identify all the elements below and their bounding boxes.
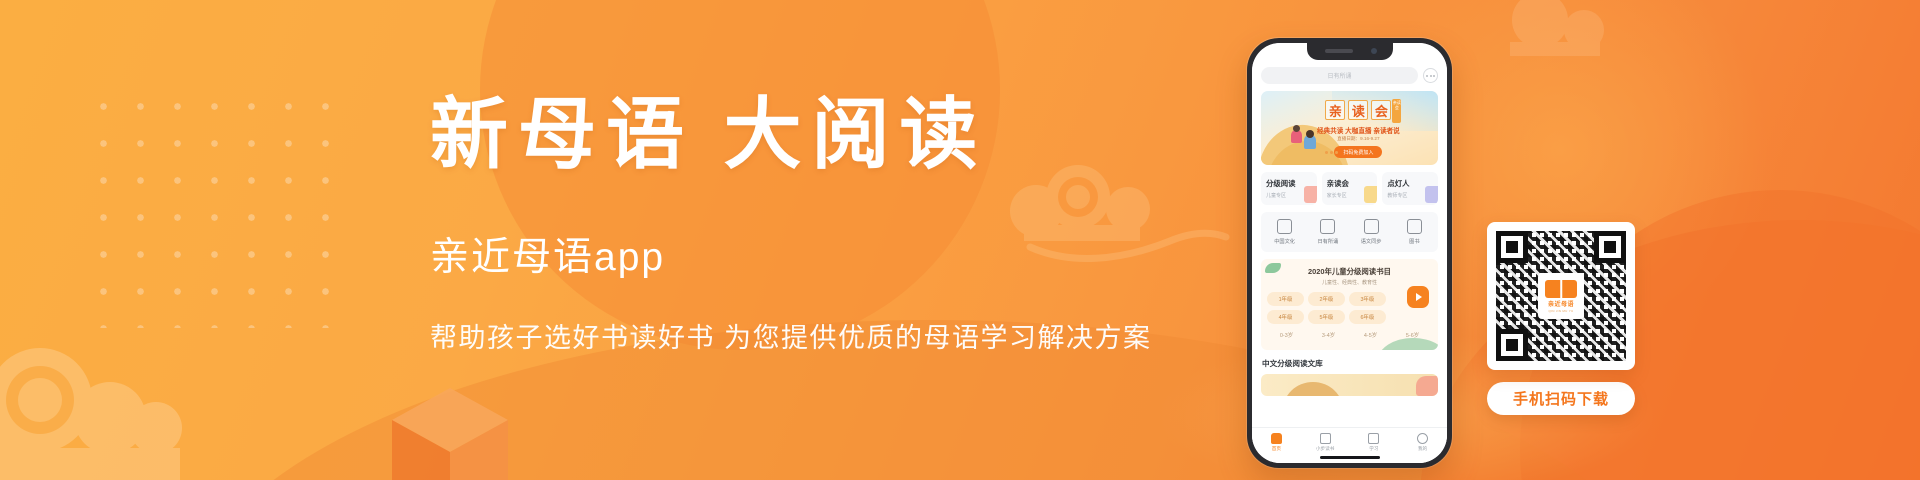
tab-reading[interactable]: 小步读书 — [1301, 433, 1350, 452]
grade-chip[interactable]: 4年级 — [1267, 310, 1304, 324]
library-banner[interactable] — [1261, 374, 1438, 396]
age-chip[interactable]: 3-4岁 — [1309, 328, 1348, 342]
logo-subtitle: QIN JIN MU YU — [1548, 309, 1573, 313]
grade-chip[interactable]: 2年级 — [1308, 292, 1345, 306]
user-icon — [1417, 433, 1428, 444]
more-icon[interactable] — [1423, 68, 1438, 83]
quick-links-row: 中国文化 日有所诵 语文同步 图书 — [1261, 212, 1438, 252]
quick-link-sync[interactable]: 语文同步 — [1350, 219, 1393, 245]
quick-link-label: 中国文化 — [1263, 238, 1306, 245]
page-title: 新母语 大阅读 — [430, 96, 1250, 174]
qr-code: 亲近母语 QIN JIN MU YU — [1487, 222, 1635, 370]
phone-mockup: 日有所诵 亲 读 会 亲读会 经典共读 大咖直播 亲读者说 — [1247, 38, 1452, 468]
recite-icon — [1320, 219, 1335, 234]
hero-banner[interactable]: 亲 读 会 亲读会 经典共读 大咖直播 亲读者说 直播日期：9.16-9.27 … — [1261, 91, 1438, 165]
book-icon — [1364, 186, 1377, 203]
tab-label: 小步读书 — [1301, 446, 1350, 452]
grade-chips: 1年级 2年级 3年级 4年级 5年级 6年级 — [1267, 292, 1386, 324]
quick-link-label: 图书 — [1393, 238, 1436, 245]
tagline: 帮助孩子选好书读好书 为您提供优质的母语学习解决方案 — [430, 316, 1250, 355]
cloud-icon — [0, 330, 270, 480]
quick-link-recite[interactable]: 日有所诵 — [1306, 219, 1349, 245]
headline-block: 新母语 大阅读 亲近母语app 帮助孩子选好书读好书 为您提供优质的母语学习解决… — [430, 96, 1250, 355]
tab-label: 我的 — [1398, 446, 1447, 452]
quick-link-books[interactable]: 图书 — [1393, 219, 1436, 245]
tab-home[interactable]: 首页 — [1252, 433, 1301, 452]
kid-illustration — [1291, 130, 1302, 143]
hero-cta-button[interactable]: 扫码免费加入 — [1334, 146, 1382, 158]
person-icon — [1425, 186, 1438, 203]
qr-finder-icon — [1594, 231, 1626, 263]
sync-icon — [1364, 219, 1379, 234]
app-name: 亲近母语app — [430, 226, 1250, 282]
hero-char: 会 — [1371, 100, 1391, 120]
category-card[interactable]: 点灯人 教师专区 — [1382, 172, 1438, 205]
hero-ribbon: 亲读会 — [1392, 99, 1401, 123]
culture-icon — [1277, 219, 1292, 234]
search-bar[interactable]: 日有所诵 — [1261, 67, 1438, 84]
age-chip[interactable]: 0-3岁 — [1267, 328, 1306, 342]
cloud-icon — [1480, 0, 1680, 80]
qr-block: 亲近母语 QIN JIN MU YU 手机扫码下载 — [1487, 222, 1635, 415]
download-button[interactable]: 手机扫码下载 — [1487, 382, 1635, 415]
hero-date: 直播日期：9.16-9.27 — [1337, 136, 1379, 142]
open-book-icon — [1545, 280, 1577, 298]
decor-dot-grid — [85, 88, 345, 328]
decor-cube — [390, 380, 510, 480]
tab-label: 学习 — [1350, 446, 1399, 452]
search-input[interactable]: 日有所诵 — [1261, 67, 1418, 84]
tab-profile[interactable]: 我的 — [1398, 433, 1447, 452]
home-indicator — [1320, 456, 1380, 459]
list-icon — [1320, 433, 1331, 444]
home-icon — [1271, 433, 1282, 444]
book-icon — [1304, 186, 1317, 203]
library-section-title: 中文分级阅读文库 — [1262, 358, 1438, 369]
quick-link-label: 日有所诵 — [1306, 238, 1349, 245]
phone-notch — [1307, 43, 1393, 60]
quick-link-label: 语文同步 — [1350, 238, 1393, 245]
age-chip[interactable]: 4-5岁 — [1351, 328, 1390, 342]
category-card[interactable]: 分级阅读 儿童专区 — [1261, 172, 1317, 205]
logo-title: 亲近母语 — [1548, 299, 1574, 308]
hero-title: 亲 读 会 — [1325, 100, 1391, 120]
hero-char: 读 — [1348, 100, 1368, 120]
hero-subtitle: 经典共读 大咖直播 亲读者说 — [1317, 125, 1400, 135]
category-card[interactable]: 亲读会 家长专区 — [1322, 172, 1378, 205]
promo-banner: 新母语 大阅读 亲近母语app 帮助孩子选好书读好书 为您提供优质的母语学习解决… — [0, 0, 1920, 480]
hero-char: 亲 — [1325, 100, 1345, 120]
booklist-module[interactable]: 2020年儿童分级阅读书目 儿童性、经典性、教育性 1年级 2年级 3年级 4年… — [1261, 259, 1438, 350]
booklist-title: 2020年儿童分级阅读书目 — [1267, 266, 1432, 277]
book-icon — [1407, 219, 1422, 234]
qr-finder-icon — [1496, 231, 1528, 263]
booklist-subtitle: 儿童性、经典性、教育性 — [1267, 279, 1432, 286]
quick-link-culture[interactable]: 中国文化 — [1263, 219, 1306, 245]
check-icon — [1368, 433, 1379, 444]
category-cards: 分级阅读 儿童专区 亲读会 家长专区 点灯人 教师专区 — [1261, 172, 1438, 205]
grade-chip[interactable]: 3年级 — [1349, 292, 1386, 306]
carousel-dots[interactable] — [1325, 151, 1338, 154]
grade-chip[interactable]: 6年级 — [1349, 310, 1386, 324]
qr-finder-icon — [1496, 329, 1528, 361]
tab-study[interactable]: 学习 — [1350, 433, 1399, 452]
kid-illustration — [1304, 135, 1316, 149]
grade-chip[interactable]: 1年级 — [1267, 292, 1304, 306]
app-screen: 日有所诵 亲 读 会 亲读会 经典共读 大咖直播 亲读者说 — [1252, 43, 1447, 463]
play-video-button[interactable] — [1407, 286, 1429, 308]
grade-chip[interactable]: 5年级 — [1308, 310, 1345, 324]
tab-label: 首页 — [1252, 446, 1301, 452]
brand-logo: 亲近母语 QIN JIN MU YU — [1538, 273, 1584, 319]
